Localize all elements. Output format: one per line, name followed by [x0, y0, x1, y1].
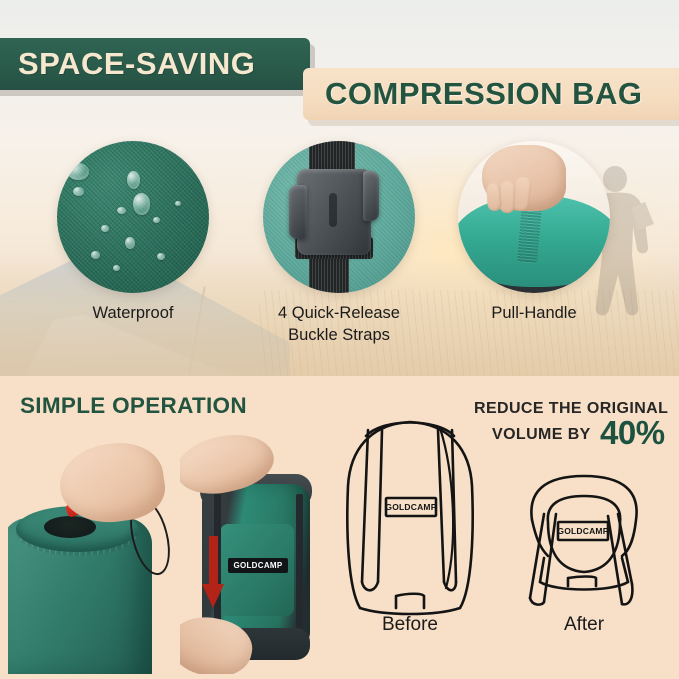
feature-waterproof: Waterproof [48, 141, 218, 325]
diagram-before-label: Before [336, 614, 484, 636]
headline-line-2: COMPRESSION BAG [325, 76, 643, 112]
simple-operation-panel: SIMPLE OPERATION REDUCE THE ORIGINAL VOL… [0, 376, 679, 679]
buckle-side-wing-left [289, 185, 307, 239]
webbing-strap-bottom [309, 259, 349, 293]
arrow-shaft [209, 536, 218, 586]
step-photo-compressing: GOLDCAMP [180, 432, 330, 674]
diagram-after-brand: GOLDCAMP [558, 522, 608, 540]
feature-label-line-1: Pull-Handle [449, 303, 619, 325]
water-droplet [117, 207, 126, 214]
headline-line-1: SPACE-SAVING [18, 46, 255, 82]
water-droplet [113, 265, 120, 271]
pull-down-arrow [202, 536, 224, 610]
feature-label: 4 Quick-Release Buckle Straps [254, 303, 424, 347]
product-logo-patch: GOLDCAMP [228, 558, 288, 573]
headline-banner-secondary: COMPRESSION BAG [303, 68, 679, 120]
water-droplet [125, 237, 135, 249]
water-droplet [133, 193, 150, 215]
finger [486, 183, 502, 212]
buckle-image [263, 141, 415, 293]
feature-pull-handle: Pull-Handle [449, 141, 619, 325]
product-infographic: SPACE-SAVING COMPRESSION BAG [0, 0, 679, 679]
water-droplet [101, 225, 109, 232]
finger [499, 181, 515, 214]
step-photo-drawstring [8, 438, 184, 674]
pull-handle-image [458, 141, 610, 293]
buckle-side-wing-right [363, 171, 379, 221]
diagram-after: GOLDCAMP After [510, 464, 658, 644]
feature-label-line-2: Buckle Straps [254, 325, 424, 347]
arrow-head [202, 584, 224, 608]
top-scene-background: SPACE-SAVING COMPRESSION BAG [0, 0, 679, 376]
buckle-release-slot [329, 193, 337, 227]
water-droplet [157, 253, 165, 260]
reduce-text-line-2: VOLUME BY [492, 426, 591, 444]
diagram-before: GOLDCAMP Before [336, 412, 484, 642]
diagram-before-brand: GOLDCAMP [386, 498, 436, 516]
diagram-after-label: After [510, 614, 658, 636]
compression-strap [296, 494, 303, 646]
feature-label-line-1: Waterproof [48, 303, 218, 325]
section-title: SIMPLE OPERATION [20, 393, 247, 419]
headline-banner-primary: SPACE-SAVING [0, 38, 310, 90]
water-droplet [67, 163, 89, 180]
water-droplet [153, 217, 160, 223]
feature-label-line-1: 4 Quick-Release [254, 303, 424, 325]
water-droplet [127, 171, 140, 189]
volume-reduction-percent: 40% [600, 414, 665, 452]
water-droplet [73, 187, 84, 196]
waterproof-image [57, 141, 209, 293]
water-droplet [175, 201, 181, 206]
feature-label: Pull-Handle [449, 303, 619, 325]
water-droplet [91, 251, 100, 259]
feature-label: Waterproof [48, 303, 218, 325]
feature-buckle-straps: 4 Quick-Release Buckle Straps [254, 141, 424, 347]
